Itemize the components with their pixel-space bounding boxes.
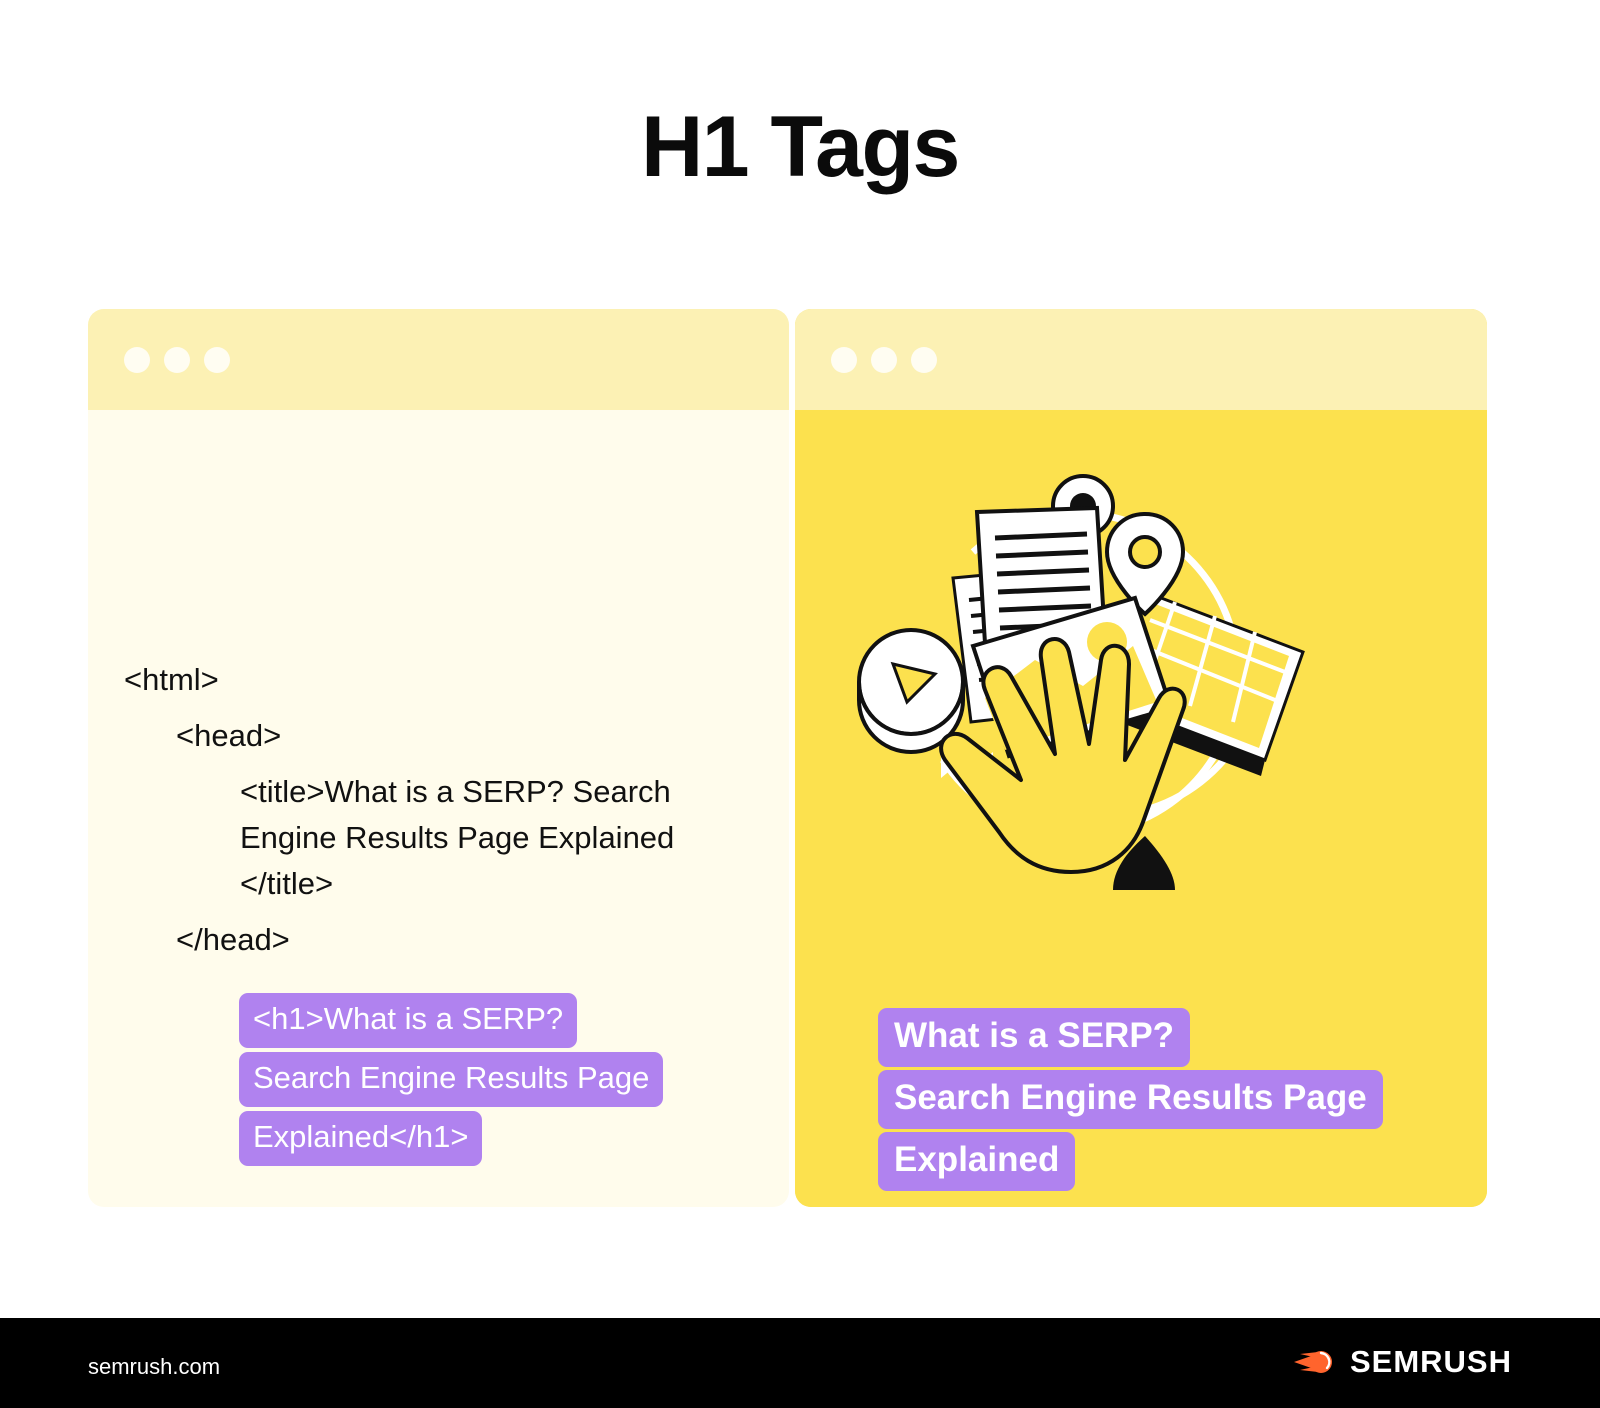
semrush-logo: SEMRUSH — [1292, 1344, 1512, 1380]
semrush-logo-text: SEMRUSH — [1350, 1344, 1512, 1380]
code-line-head-open: <head> — [176, 713, 281, 759]
window-minimize-dot-icon[interactable] — [164, 347, 190, 373]
window-maximize-dot-icon[interactable] — [204, 347, 230, 373]
semrush-comet-icon — [1292, 1347, 1336, 1377]
window-close-dot-icon[interactable] — [831, 347, 857, 373]
code-line-html-open: <html> — [124, 657, 219, 703]
code-h1-highlight-line-2: Search Engine Results Page — [239, 1052, 663, 1107]
code-browser-window: <html> <head> <title>What is a SERP? Sea… — [88, 309, 789, 1207]
code-h1-highlight-line-1: <h1>What is a SERP? — [239, 993, 577, 1048]
hand-holding-documents-map-illustration — [845, 460, 1345, 890]
rendered-page-content: What is a SERP? Search Engine Results Pa… — [795, 410, 1487, 1207]
code-line-title-tag: <title>What is a SERP? Search Engine Res… — [240, 769, 740, 907]
rendered-headline-line-1: What is a SERP? — [878, 1008, 1190, 1067]
footer-url: semrush.com — [88, 1354, 220, 1380]
code-window-titlebar — [88, 309, 789, 410]
code-listing: <html> <head> <title>What is a SERP? Sea… — [88, 410, 789, 1207]
window-close-dot-icon[interactable] — [124, 347, 150, 373]
window-maximize-dot-icon[interactable] — [911, 347, 937, 373]
rendered-headline-line-2: Search Engine Results Page — [878, 1070, 1383, 1129]
footer-bar: semrush.com SEMRUSH — [0, 1318, 1600, 1408]
rendered-headline-line-3: Explained — [878, 1132, 1075, 1191]
rendered-h1-headline: What is a SERP? Search Engine Results Pa… — [878, 1008, 1383, 1191]
rendered-window-titlebar — [795, 309, 1487, 410]
page-title: H1 Tags — [0, 104, 1600, 190]
code-h1-highlight-group: <h1>What is a SERP? Search Engine Result… — [239, 993, 663, 1166]
rendered-window-dots — [831, 347, 937, 373]
infographic-root: H1 Tags <html> <head> <title>What is a S… — [0, 0, 1600, 1408]
code-h1-highlight-line-3: Explained</h1> — [239, 1111, 482, 1166]
window-minimize-dot-icon[interactable] — [871, 347, 897, 373]
rendered-page-browser-window: What is a SERP? Search Engine Results Pa… — [795, 309, 1487, 1207]
code-window-dots — [124, 347, 230, 373]
code-line-head-close: </head> — [176, 917, 290, 963]
